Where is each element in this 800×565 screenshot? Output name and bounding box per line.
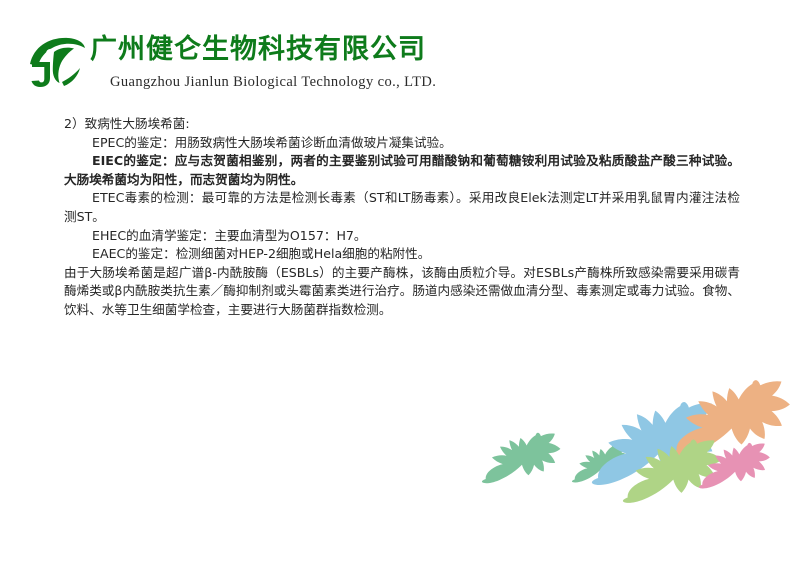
company-name-english: Guangzhou Jianlun Biological Technology …: [110, 74, 436, 91]
paragraph-eiec: EIEC的鉴定：应与志贺菌相鉴别，两者的主要鉴别试验可用醋酸钠和葡萄糖铵利用试验…: [64, 152, 740, 189]
leaf-green-left: [482, 433, 561, 483]
page-header: 广州健仑生物科技有限公司 Guangzhou Jianlun Biologica…: [28, 32, 768, 94]
paragraph-ehec: EHEC的血清学鉴定：主要血清型为O157：H7。: [64, 227, 740, 246]
leaf-blue-large: [592, 402, 721, 485]
content-heading: 2）致病性大肠埃希菌:: [64, 115, 740, 134]
leaf-lightgreen: [623, 439, 722, 502]
leaf-green-small: [572, 445, 630, 482]
company-name-chinese: 广州健仑生物科技有限公司: [90, 33, 426, 67]
jl-monogram-logo-icon: [28, 34, 86, 90]
paragraph-epec: EPEC的鉴定：用肠致病性大肠埃希菌诊断血清做玻片凝集试验。: [64, 134, 740, 153]
leaf-pink: [699, 443, 770, 489]
leaf-orange: [671, 380, 790, 456]
paragraph-eaec: EAEC的鉴定：检测细菌对HEP-2细胞或Hela细胞的粘附性。: [64, 245, 740, 264]
paragraph-esbl: 由于大肠埃希菌是超广谱β-内酰胺酶（ESBLs）的主要产酶株，该酶由质粒介导。对…: [64, 264, 740, 320]
slide-page: 广州健仑生物科技有限公司 Guangzhou Jianlun Biologica…: [0, 0, 800, 565]
body-content: 2）致病性大肠埃希菌: EPEC的鉴定：用肠致病性大肠埃希菌诊断血清做玻片凝集试…: [64, 115, 740, 320]
paragraph-etec: ETEC毒素的检测：最可靠的方法是检测长毒素（ST和LT肠毒素）。采用改良Ele…: [64, 189, 740, 226]
